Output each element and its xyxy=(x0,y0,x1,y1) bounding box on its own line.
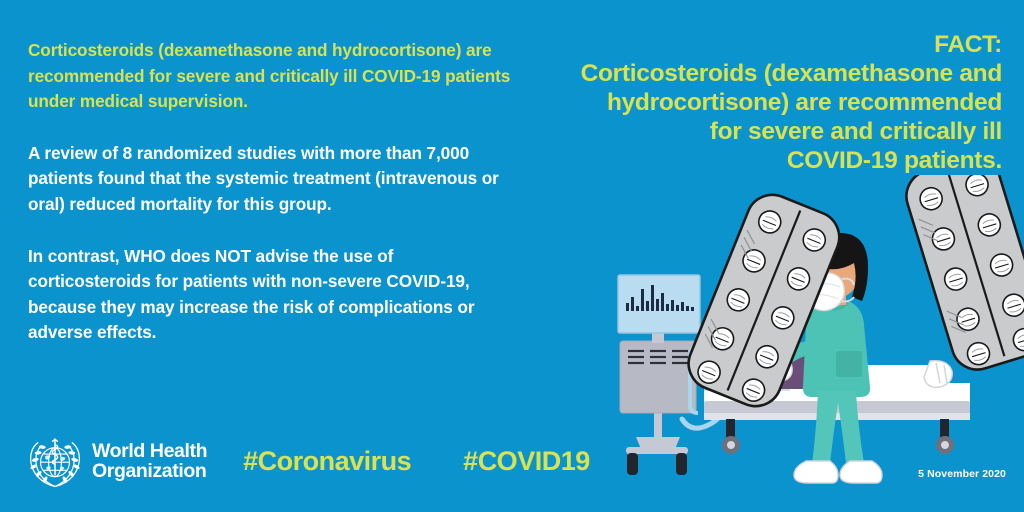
who-wordmark: World Health Organization xyxy=(92,441,207,481)
paragraph-evidence: A review of 8 randomized studies with mo… xyxy=(28,141,518,218)
illustration-nurse-and-patient xyxy=(600,175,1024,505)
body-text-column: Corticosteroids (dexamethasone and hydro… xyxy=(28,38,518,372)
paragraph-contraindication: In contrast, WHO does NOT advise the use… xyxy=(28,244,518,346)
vital-signs-monitor xyxy=(618,275,700,475)
headline-line-2: hydrocortisone) are recommended xyxy=(502,88,1002,117)
who-infographic-poster: FACT: Corticosteroids (dexamethasone and… xyxy=(0,0,1024,512)
pill-blister-pack-right xyxy=(900,175,1024,376)
footer: World Health Organization #Coronavirus #… xyxy=(26,432,590,490)
who-logo: World Health Organization xyxy=(26,432,207,490)
headline-line-4: COVID-19 patients. xyxy=(502,146,1002,175)
headline-line-3: for severe and critically ill xyxy=(502,117,1002,146)
who-wordmark-line-2: Organization xyxy=(92,461,207,481)
hashtag-coronavirus[interactable]: #Coronavirus xyxy=(243,448,411,475)
page-title: FACT: Corticosteroids (dexamethasone and… xyxy=(502,30,1002,175)
headline-line-1: Corticosteroids (dexamethasone and xyxy=(502,59,1002,88)
who-wordmark-line-1: World Health xyxy=(92,441,207,461)
hashtag-covid19[interactable]: #COVID19 xyxy=(463,448,590,475)
who-emblem-icon xyxy=(26,432,84,490)
monitor-screen xyxy=(618,275,700,333)
fact-label: FACT: xyxy=(502,30,1002,59)
paragraph-recommendation: Corticosteroids (dexamethasone and hydro… xyxy=(28,38,518,115)
